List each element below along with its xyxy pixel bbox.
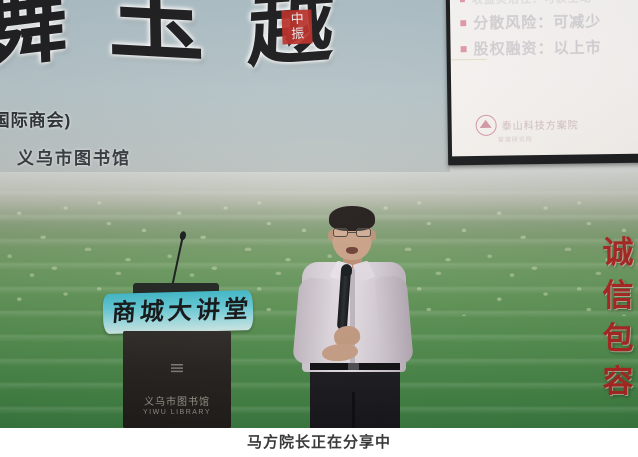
slide-bullet-item: 分散风险：可减少 [460,10,638,34]
slide-bullet-list: 收益灵活性：可获主动 分散风险：可减少 股权融资：以上市 [460,0,638,64]
podium-label: 义乌市图书馆 YIWU LIBRARY [143,393,211,416]
mountain-logo-icon [476,115,497,136]
podium-banner: 商城大讲堂 [102,290,253,334]
speaker-leg-seam [352,392,355,428]
backdrop-banner-panel: 舞 玉 越 中 振 (国际商会) 义乌市图书馆 [0,0,450,172]
seal-line-1: 中 [281,11,312,27]
slide-bullet-item: 股权融资：以上市 [460,36,638,60]
podium-label-cn: 义乌市图书馆 [143,393,211,408]
podium-body: ≡ 义乌市图书馆 YIWU LIBRARY [123,331,231,428]
organizer-text: (国际商会) [0,106,71,131]
speaker-mouth [346,247,358,254]
slide-bullet-text: 收益灵活性：可获主动 [472,0,592,7]
podium-banner-text: 商城大讲堂 [111,295,253,327]
speaker-person [286,206,422,428]
slide-logo-subtext: 管理研究院 [498,134,533,143]
slide-bullet-item: 收益灵活性：可获主动 [460,0,638,7]
bullet-square-icon [460,0,465,2]
calligraphy-char-2: 玉 [107,0,205,69]
bullet-square-icon [460,20,466,26]
event-photo: 舞 玉 越 中 振 (国际商会) 义乌市图书馆 收益灵活性：可获主动 [0,0,638,428]
speaker-belt-buckle [348,363,359,370]
photo-caption: 马方院长正在分享中 [0,428,638,457]
bullet-square-icon [461,46,467,52]
slogan-char-4: 容 [600,361,636,404]
calligraphy-char-1: 舞 [0,0,69,76]
speaker-glasses-icon [333,228,371,237]
podium: 商城大讲堂 ≡ 义乌市图书馆 YIWU LIBRARY [103,283,253,428]
library-emblem-icon: ≡ [169,359,185,378]
slogan-char-2: 信 [600,275,636,318]
slide-logo: 泰山科技方案院 [476,114,579,136]
projection-screen-surface: 收益灵活性：可获主动 分散风险：可减少 股权融资：以上市 泰山科技方案院 [450,0,638,156]
speaker-right-arm [374,275,414,365]
projection-screen: 收益灵活性：可获主动 分散风险：可减少 股权融资：以上市 泰山科技方案院 [446,0,638,165]
slide-bullet-text: 分散风险：可减少 [473,10,601,33]
slogan-char-3: 包 [600,318,636,361]
slogan-char-1: 诚 [600,232,636,275]
red-seal-stamp: 中 振 [281,9,312,44]
seal-line-2: 振 [282,26,313,42]
glasses-lens-left [333,228,348,237]
caption-bar: 马方院长正在分享中 [0,428,638,457]
slide-bullet-text: 股权融资：以上市 [473,36,601,59]
venue-text: 义乌市图书馆 [17,144,131,169]
podium-label-en: YIWU LIBRARY [143,409,211,416]
slide-logo-text: 泰山科技方案院 [502,117,579,133]
article-figure: 舞 玉 越 中 振 (国际商会) 义乌市图书馆 收益灵活性：可获主动 [0,0,638,457]
glasses-bridge [348,232,356,233]
glasses-lens-right [356,228,371,237]
speaker-trousers [310,366,400,428]
wall-slogan: 诚 信 包 容 [600,232,636,404]
